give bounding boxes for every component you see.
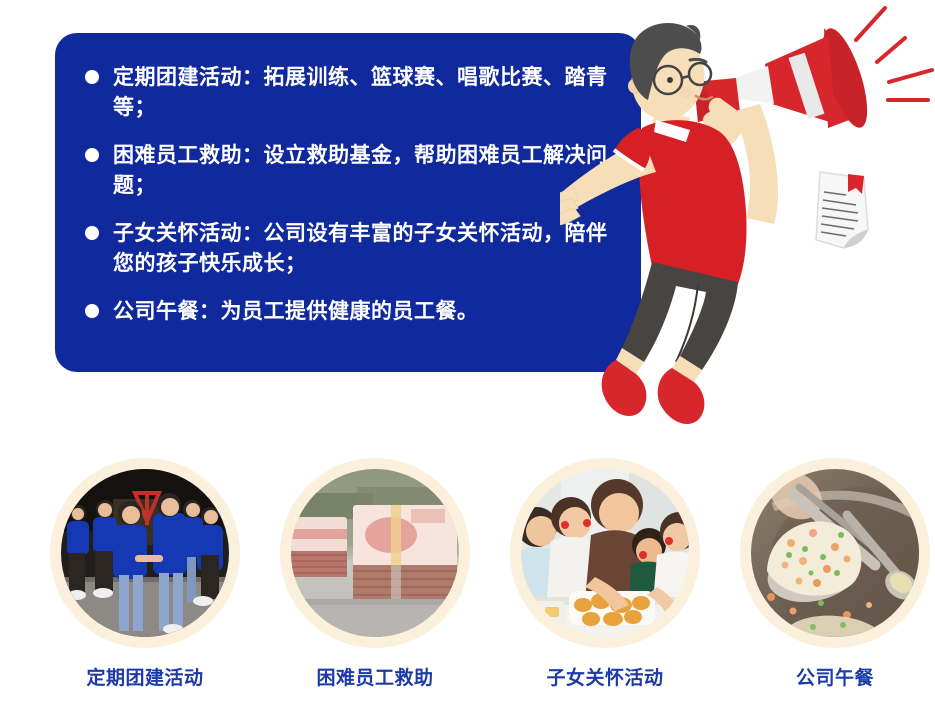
benefit-item: 困难员工救助：设立救助基金，帮助困难员工解决问题；	[85, 141, 615, 202]
photo-cell-children-care[interactable]: 子女关怀活动	[505, 458, 705, 663]
photo-ring	[510, 458, 700, 648]
photo-caption: 定期团建活动	[45, 663, 245, 690]
bullet-dot-icon	[85, 304, 99, 318]
document-icon	[816, 172, 868, 248]
photo-caption: 困难员工救助	[275, 663, 475, 690]
benefit-item: 公司午餐：为员工提供健康的员工餐。	[85, 297, 615, 327]
bullet-dot-icon	[85, 226, 99, 240]
photo-cell-company-lunch[interactable]: 公司午餐	[735, 458, 935, 663]
children-activity-photo	[521, 469, 689, 637]
benefit-item: 定期团建活动：拓展训练、篮球赛、唱歌比赛、踏青等；	[85, 63, 615, 124]
photo-row: 定期团建活动	[0, 458, 935, 663]
photo-caption: 公司午餐	[735, 663, 935, 690]
red-shirt	[639, 120, 746, 284]
photo-caption: 子女关怀活动	[505, 663, 705, 690]
benefit-item: 子女关怀活动：公司设有丰富的子女关怀活动，陪伴您的孩子快乐成长；	[85, 219, 615, 280]
photo-ring	[740, 458, 930, 648]
photo-cell-team-building[interactable]: 定期团建活动	[45, 458, 245, 663]
photo-cell-financial-aid[interactable]: 困难员工救助	[275, 458, 475, 663]
team-building-photo	[61, 469, 229, 637]
benefit-text: 定期团建活动：拓展训练、篮球赛、唱歌比赛、踏青等；	[113, 63, 615, 124]
photo-ring	[50, 458, 240, 648]
bullet-dot-icon	[85, 148, 99, 162]
photo-ring	[280, 458, 470, 648]
cash-bundles-photo	[291, 469, 459, 637]
benefit-text: 子女关怀活动：公司设有丰富的子女关怀活动，陪伴您的孩子快乐成长；	[113, 219, 615, 280]
slide-canvas: 定期团建活动：拓展训练、篮球赛、唱歌比赛、踏青等； 困难员工救助：设立救助基金，…	[0, 0, 935, 707]
benefits-panel: 定期团建活动：拓展训练、篮球赛、唱歌比赛、踏青等； 困难员工救助：设立救助基金，…	[55, 33, 641, 372]
benefit-text: 困难员工救助：设立救助基金，帮助困难员工解决问题；	[113, 141, 615, 202]
fried-rice-lunch-photo	[751, 469, 919, 637]
benefit-text: 公司午餐：为员工提供健康的员工餐。	[113, 297, 479, 327]
man-with-megaphone-illustration	[560, 0, 935, 460]
sound-lines-icon	[856, 8, 932, 100]
bullet-dot-icon	[85, 70, 99, 84]
